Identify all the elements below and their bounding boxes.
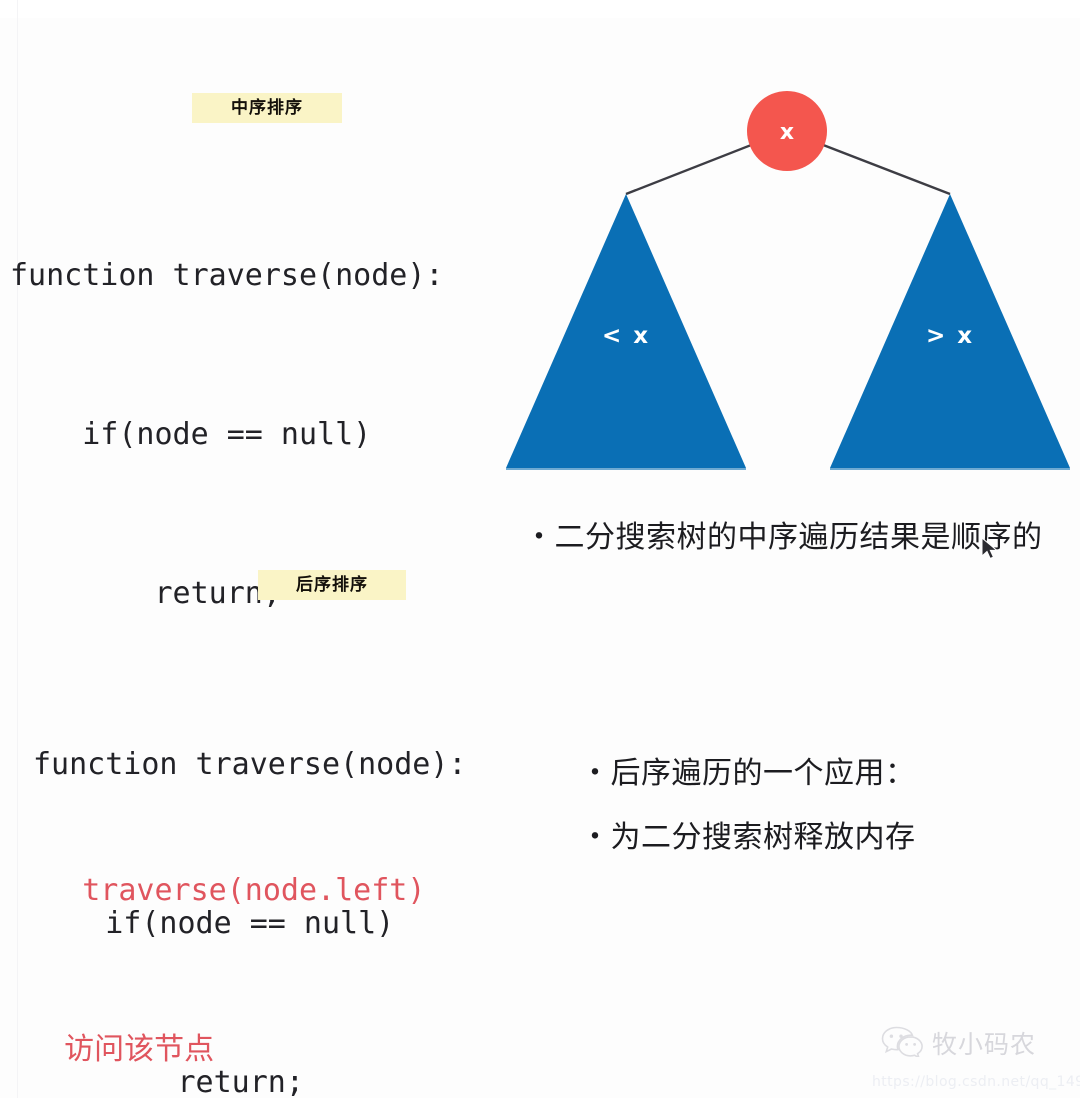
right-subtree-label: > x (926, 323, 974, 349)
bst-tree-diagram: x < x > x (490, 80, 1080, 480)
code-line: function traverse(node): (33, 738, 466, 791)
note-postorder-application: ・后序遍历的一个应用： (580, 748, 916, 792)
code-line: return; (33, 1056, 466, 1098)
section-title-inorder: 中序排序 (192, 93, 342, 123)
top-white-band (0, 0, 1080, 18)
note-postorder-free-memory: ・为二分搜索树释放内存 (580, 812, 916, 856)
watermark-url: https://blog.csdn.net/qq_14996421 (872, 1074, 1080, 1090)
left-subtree-label: < x (602, 323, 650, 349)
code-line: function traverse(node): (10, 249, 443, 302)
slide-canvas: 中序排序 function traverse(node): if(node ==… (0, 0, 1080, 1098)
root-node-label: x (780, 120, 794, 145)
mouse-pointer-icon (981, 537, 999, 561)
code-line: if(node == null) (33, 897, 466, 950)
note-inorder-result: ・二分搜索树的中序遍历结果是顺序的 (524, 512, 1043, 556)
code-line: if(node == null) (10, 408, 443, 461)
watermark: 牧小码农 (880, 1020, 1070, 1066)
code-block-postorder: function traverse(node): if(node == null… (33, 632, 466, 1098)
section-title-postorder: 后序排序 (258, 570, 406, 600)
wechat-icon (880, 1025, 924, 1062)
watermark-name: 牧小码农 (932, 1025, 1036, 1061)
